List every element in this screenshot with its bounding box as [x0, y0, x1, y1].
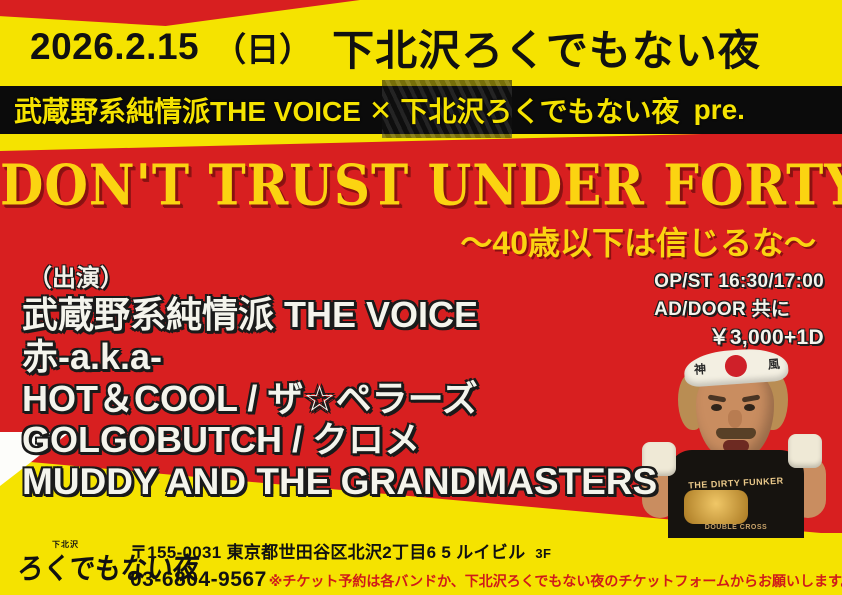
headband-kanji-right: 風	[767, 355, 780, 373]
address-text: 東京都世田谷区北沢2丁目6 5 ルイビル	[227, 543, 526, 562]
headband-kanji-left: 神	[693, 360, 706, 378]
lineup-list: （出演） 武蔵野系純情派 THE VOICE 赤-a.k.a- HOT＆COOL…	[22, 258, 657, 504]
wrestler-eye-right	[744, 404, 755, 411]
wrestler-fist-right	[788, 434, 822, 468]
ticket-price: ￥3,000+1D	[654, 323, 824, 353]
wrestler-photo: 神 風 THE DIRTY FUNKER DOUBLE CROSS	[638, 338, 828, 538]
presenter-right: 下北沢ろくでもない夜	[400, 90, 679, 130]
ticket-type: AD/DOOR 共に	[654, 296, 824, 324]
list-item: HOT＆COOL / ザ☆ペラーズ	[22, 378, 657, 420]
venue-logo: 下北沢 ろくでもない夜	[18, 539, 126, 589]
ticket-note: ※チケット予約は各バンドか、下北沢ろくでもない夜のチケットフォームからお願いしま…	[269, 571, 842, 591]
cross-icon: ✕	[369, 94, 392, 127]
championship-belt	[684, 490, 748, 524]
floor-text: 3F	[535, 546, 551, 561]
ticket-info: OP/ST 16:30/17:00 AD/DOOR 共に ￥3,000+1D	[654, 268, 824, 354]
list-item: 赤-a.k.a-	[22, 336, 657, 378]
page-title: DON'T TRUST UNDER FORTY	[0, 152, 842, 218]
list-item: MUDDY AND THE GRANDMASTERS	[22, 461, 657, 504]
list-item: GOLGOBUTCH / クロメ	[22, 419, 657, 461]
list-item: 武蔵野系純情派 THE VOICE	[22, 294, 657, 336]
lineup-label: （出演）	[22, 258, 657, 293]
tshirt-text-secondary: DOUBLE CROSS	[668, 524, 804, 531]
venue-name: 下北沢ろくでもない夜	[332, 17, 761, 78]
phone-number[interactable]: 03-6804-9567	[130, 568, 267, 592]
wrestler-eye-left	[711, 404, 722, 411]
wrestler-moustache	[716, 428, 756, 439]
contact-row: 03-6804-9567 ※チケット予約は各バンドか、下北沢ろくでもない夜のチケ…	[130, 568, 842, 592]
open-start-time: OP/ST 16:30/17:00	[654, 268, 824, 296]
concert-flyer: 2026.2.15 （日） 下北沢ろくでもない夜 武蔵野系純情派THE VOIC…	[0, 0, 842, 595]
event-date: 2026.2.15	[30, 26, 199, 68]
presenter-suffix: pre.	[694, 94, 745, 126]
event-day-of-week: （日）	[213, 23, 312, 71]
presenter-left: 武蔵野系純情派THE VOICE	[14, 90, 361, 130]
postal-code: 〒155-0031	[130, 543, 222, 562]
hinomaru-icon	[724, 354, 747, 377]
wrestler-nose	[728, 410, 742, 428]
presenter-line: 武蔵野系純情派THE VOICE ✕ 下北沢ろくでもない夜 pre.	[0, 88, 842, 132]
tshirt-text: THE DIRTY FUNKER	[668, 474, 804, 491]
date-header: 2026.2.15 （日） 下北沢ろくでもない夜	[0, 16, 842, 78]
venue-address: 〒155-0031 東京都世田谷区北沢2丁目6 5 ルイビル 3F	[130, 538, 551, 563]
